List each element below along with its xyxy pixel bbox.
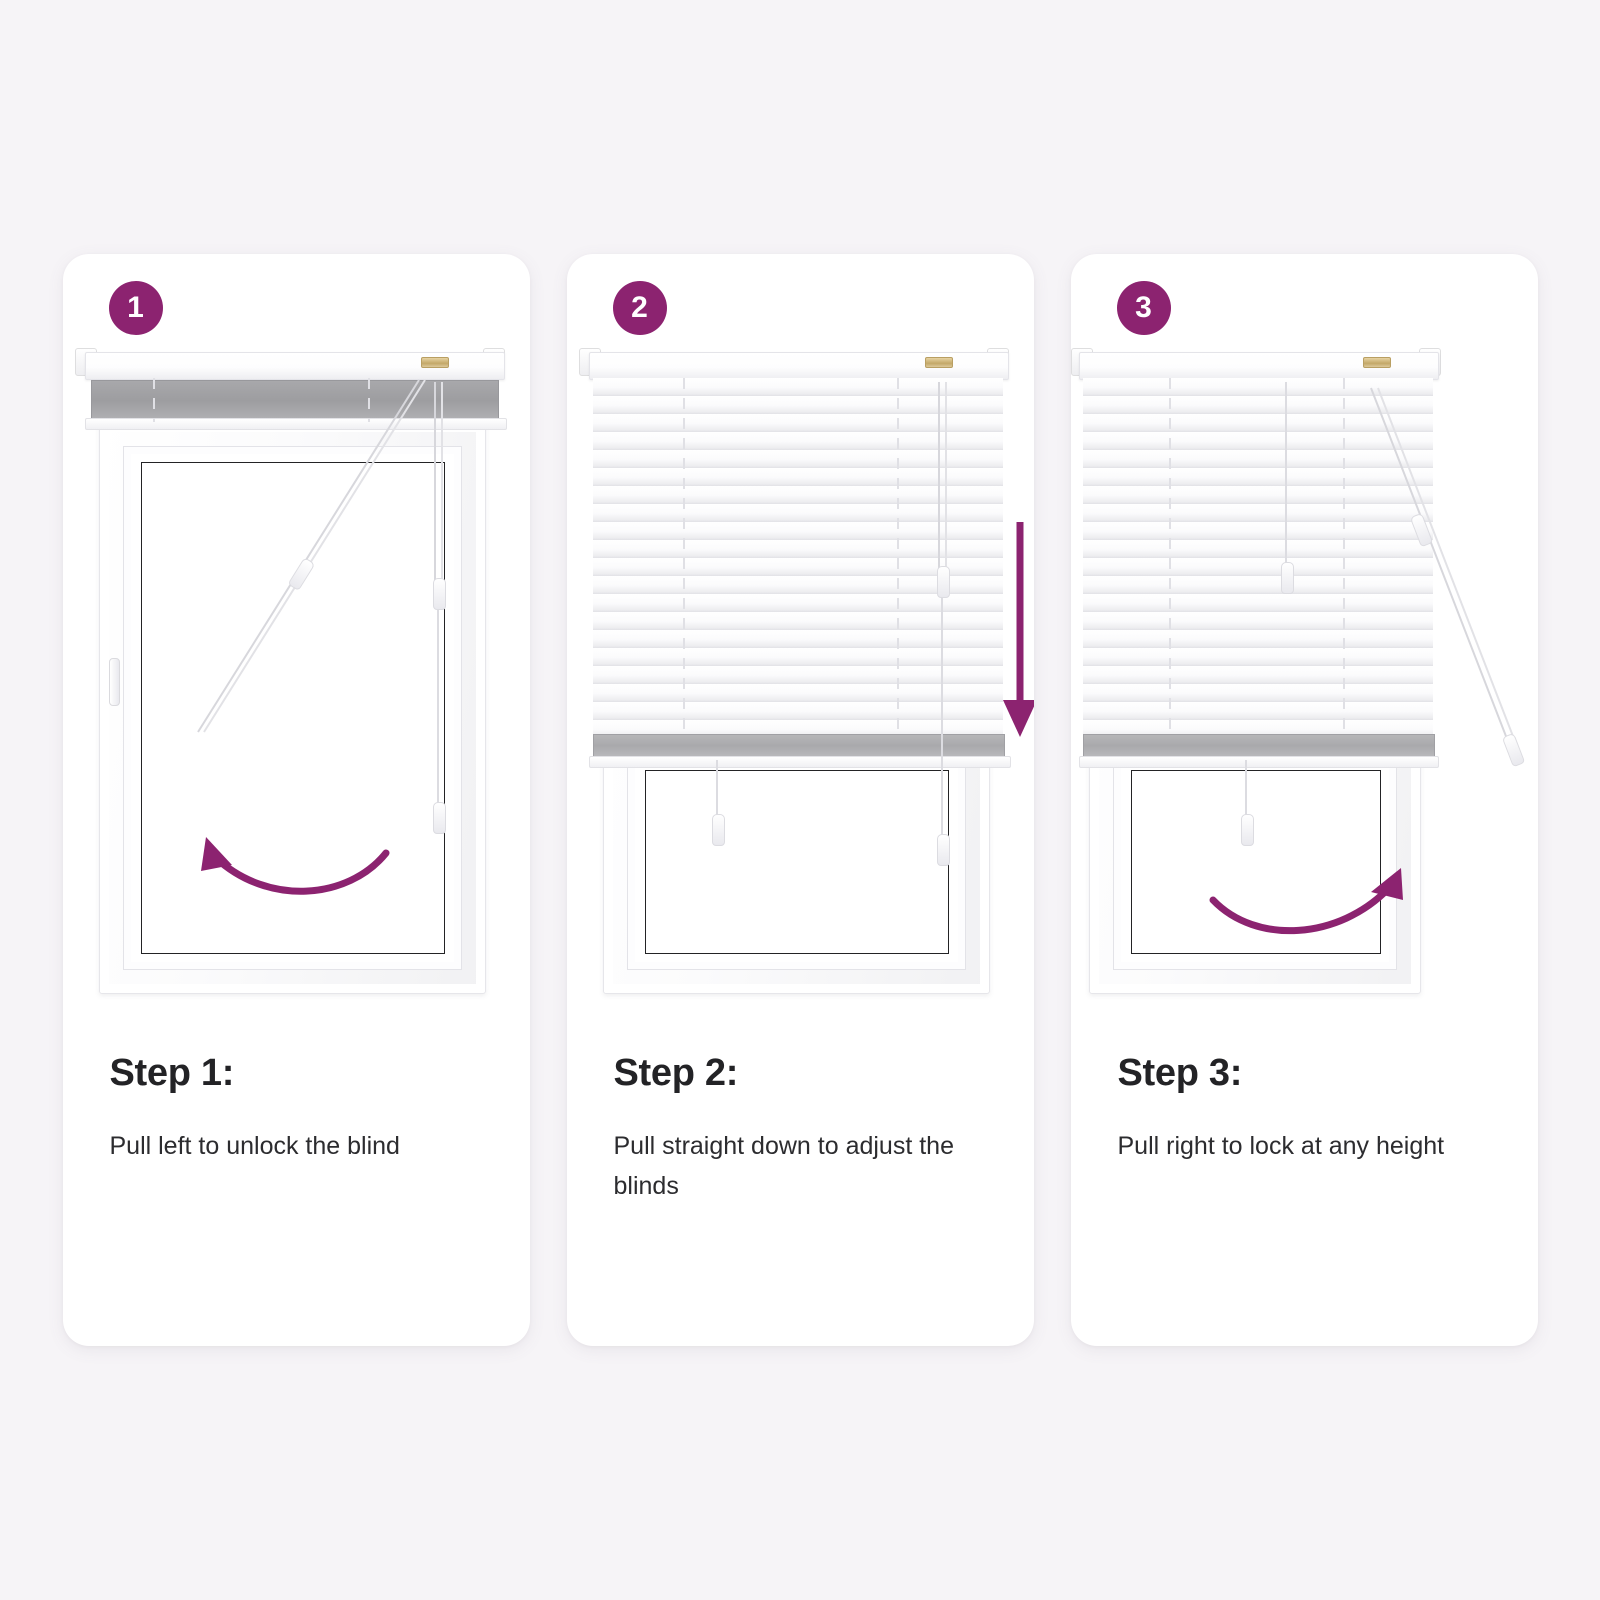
step-description-2: Pull straight down to adjust the blinds <box>614 1126 984 1206</box>
step-caption-2: Step 2: Pull straight down to adjust the… <box>614 1054 984 1206</box>
step-description-3: Pull right to lock at any height <box>1118 1126 1488 1166</box>
step-title-1: Step 1: <box>110 1054 480 1092</box>
step-badge-3: 3 <box>1117 281 1171 335</box>
step-illustration-2 <box>567 340 1034 1040</box>
step-title-2: Step 2: <box>614 1054 984 1092</box>
direction-arrow-right <box>1071 340 1538 1040</box>
step-title-3: Step 3: <box>1118 1054 1488 1092</box>
step-card-1: 1 <box>63 254 530 1346</box>
step-badge-1: 1 <box>109 281 163 335</box>
step-caption-3: Step 3: Pull right to lock at any height <box>1118 1054 1488 1166</box>
direction-arrow-down <box>567 340 1034 1040</box>
step-card-3: 3 <box>1071 254 1538 1346</box>
step-badge-2: 2 <box>613 281 667 335</box>
step-caption-1: Step 1: Pull left to unlock the blind <box>110 1054 480 1166</box>
step-card-2: 2 <box>567 254 1034 1346</box>
steps-board: 1 <box>0 0 1600 1600</box>
step-illustration-1 <box>63 340 530 1040</box>
step-illustration-3 <box>1071 340 1538 1040</box>
step-description-1: Pull left to unlock the blind <box>110 1126 480 1166</box>
direction-arrow-left <box>63 340 530 1040</box>
